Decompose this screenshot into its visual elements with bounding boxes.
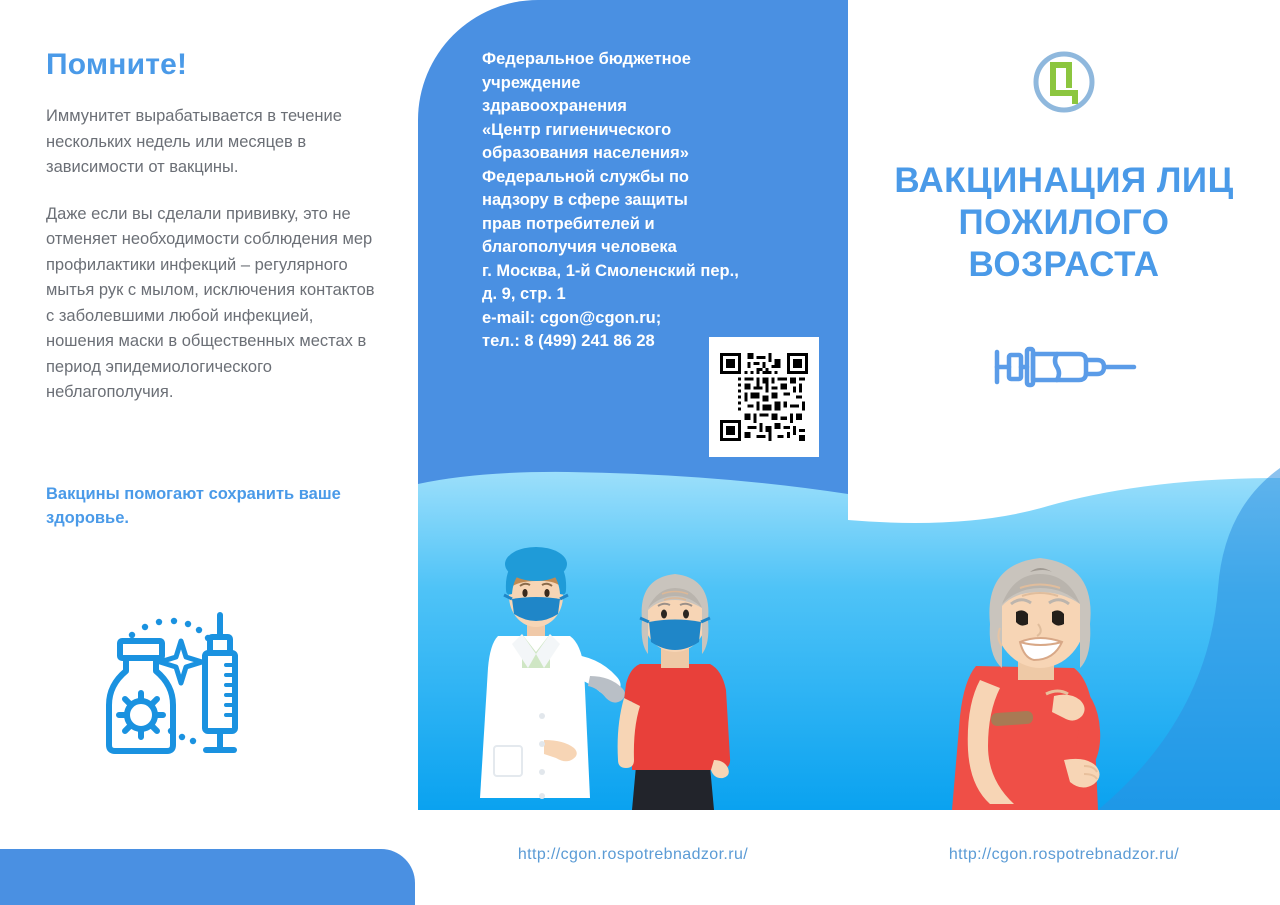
left-panel-body: Иммунитет вырабатывается в течение неско… (46, 104, 381, 406)
org-line-11: д. 9, стр. 1 (482, 283, 822, 307)
org-line-12: e-mail: cgon@cgon.ru; (482, 307, 822, 331)
org-line-6: Федеральной службы по (482, 166, 822, 190)
footer-url-center[interactable]: http://cgon.rospotrebnadzor.ru/ (418, 846, 848, 864)
organization-address-block: Федеральное бюджетное учреждение здравоо… (482, 48, 822, 354)
org-line-7: надзору в сфере защиты (482, 189, 822, 213)
org-line-3: здравоохранения (482, 95, 822, 119)
vaccine-vial-syringe-icon (98, 605, 263, 765)
left-paragraph-2: Даже если вы сделали прививку, это не от… (46, 202, 381, 406)
org-line-10: г. Москва, 1-й Смоленский пер., (482, 260, 822, 284)
left-paragraph-1: Иммунитет вырабатывается в течение неско… (46, 104, 381, 181)
brochure-page: Помните! Иммунитет вырабатывается в тече… (0, 0, 1280, 905)
doctor-vaccinating-elderly-woman-illustration (418, 468, 848, 810)
org-line-1: Федеральное бюджетное (482, 48, 822, 72)
org-line-4: «Центр гигиенического (482, 119, 822, 143)
center-panel: Федеральное бюджетное учреждение здравоо… (418, 0, 848, 470)
cover-title: ВАКЦИНАЦИЯ ЛИЦ ПОЖИЛОГО ВОЗРАСТА (858, 160, 1270, 286)
org-line-5: образования населения» (482, 142, 822, 166)
qr-code-icon[interactable] (709, 337, 819, 457)
footer-url-right[interactable]: http://cgon.rospotrebnadzor.ru/ (848, 846, 1280, 864)
elderly-woman-with-bandage-illustration (848, 468, 1280, 810)
org-line-2: учреждение (482, 72, 822, 96)
org-line-9: благополучия человека (482, 236, 822, 260)
left-panel-highlight: Вакцины помогают сохранить ваше здоровье… (46, 482, 376, 530)
cover-panel: ВАКЦИНАЦИЯ ЛИЦ ПОЖИЛОГО ВОЗРАСТА (848, 0, 1280, 470)
org-line-8: прав потребителей и (482, 213, 822, 237)
cgon-logo-icon (1030, 48, 1098, 116)
left-panel-heading: Помните! (46, 48, 187, 82)
left-panel: Помните! Иммунитет вырабатывается в тече… (0, 0, 418, 905)
syringe-icon (991, 336, 1141, 398)
